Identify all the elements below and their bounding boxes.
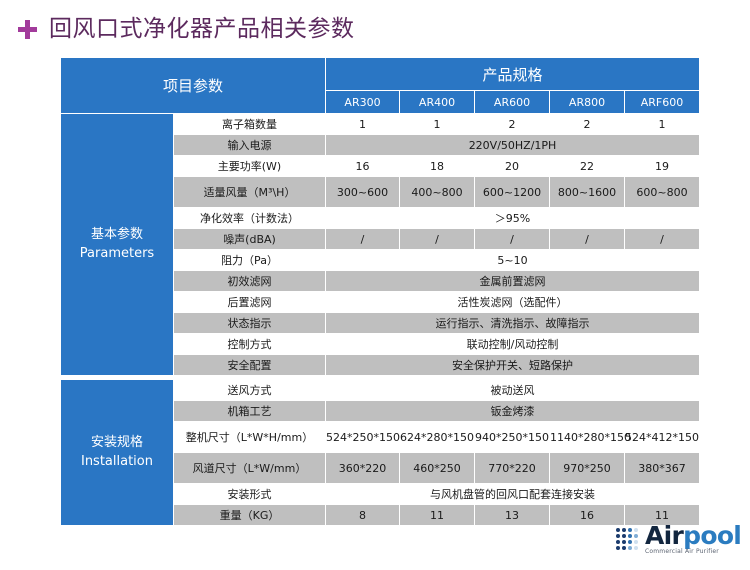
table-row: 安装规格Installation送风方式被动送风 — [61, 380, 700, 401]
section-label-cn: 基本参数 — [91, 227, 143, 242]
row-value-merged: 活性炭滤网（选配件） — [326, 292, 700, 313]
row-value-cell: 18 — [400, 156, 475, 177]
row-value-cell: 600~800 — [625, 177, 700, 208]
row-value-cell: 22 — [550, 156, 625, 177]
row-value-cell: 13 — [475, 505, 550, 526]
row-value-cell: 19 — [625, 156, 700, 177]
row-label: 适量风量（M³\H） — [174, 177, 326, 208]
logo-tagline: Commercial Air Purifier — [645, 549, 741, 555]
row-value-merged: 运行指示、清洗指示、故障指示 — [326, 313, 700, 334]
header-group-label: 产品规格 — [326, 58, 700, 91]
section-label-cn: 安装规格 — [91, 435, 143, 450]
row-label: 机箱工艺 — [174, 401, 326, 422]
row-value-cell: 624*280*150 — [400, 422, 475, 453]
row-label: 阻力（Pa） — [174, 250, 326, 271]
row-value-cell: 2 — [475, 114, 550, 135]
row-label: 状态指示 — [174, 313, 326, 334]
logo-brand-pool: pool — [683, 521, 741, 550]
logo-brand: Airpool — [645, 524, 741, 548]
row-value-cell: 1 — [625, 114, 700, 135]
row-value-cell: 770*220 — [475, 453, 550, 484]
header-model-ar600: AR600 — [475, 91, 550, 114]
row-label: 离子箱数量 — [174, 114, 326, 135]
row-value-merged: 220V/50HZ/1PH — [326, 135, 700, 156]
row-value-merged: 金属前置滤网 — [326, 271, 700, 292]
row-value-cell: 1140*280*150 — [550, 422, 625, 453]
row-label: 整机尺寸（L*W*H/mm） — [174, 422, 326, 453]
header-param-label: 项目参数 — [61, 58, 326, 114]
dot-matrix-icon — [616, 528, 639, 551]
row-value-cell: / — [326, 229, 400, 250]
row-value-cell: 600~1200 — [475, 177, 550, 208]
specification-table: 项目参数产品规格AR300AR400AR600AR800ARF600基本参数Pa… — [60, 57, 700, 526]
row-value-cell: 380*367 — [625, 453, 700, 484]
row-label: 控制方式 — [174, 334, 326, 355]
row-value-cell: 400~800 — [400, 177, 475, 208]
row-value-merged: 与风机盘管的回风口配套连接安装 — [326, 484, 700, 505]
row-value-cell: 460*250 — [400, 453, 475, 484]
row-label: 输入电源 — [174, 135, 326, 156]
row-value-cell: 970*250 — [550, 453, 625, 484]
row-value-cell: 1 — [326, 114, 400, 135]
row-value-merged: 安全保护开关、短路保护 — [326, 355, 700, 376]
section-label-installation: 安装规格Installation — [61, 380, 174, 526]
section-label-parameters: 基本参数Parameters — [61, 114, 174, 376]
row-label: 安装形式 — [174, 484, 326, 505]
row-value-merged: 联动控制/风动控制 — [326, 334, 700, 355]
row-label: 重量（KG） — [174, 505, 326, 526]
header-model-ar300: AR300 — [326, 91, 400, 114]
header-model-ar800: AR800 — [550, 91, 625, 114]
row-value-cell: 524*250*150 — [326, 422, 400, 453]
airpool-logo: Airpool Commercial Air Purifier — [616, 524, 741, 555]
row-label: 送风方式 — [174, 380, 326, 401]
header-model-arf600: ARF600 — [625, 91, 700, 114]
row-value-cell: 20 — [475, 156, 550, 177]
row-value-cell: / — [550, 229, 625, 250]
logo-wordmark: Airpool Commercial Air Purifier — [645, 524, 741, 555]
plus-icon — [18, 20, 37, 39]
logo-brand-air: Air — [645, 521, 683, 550]
row-label: 安全配置 — [174, 355, 326, 376]
row-value-merged: 钣金烤漆 — [326, 401, 700, 422]
row-value-cell: 300~600 — [326, 177, 400, 208]
row-value-merged: 被动送风 — [326, 380, 700, 401]
section-label-en: Installation — [61, 453, 173, 472]
row-value-cell: 2 — [550, 114, 625, 135]
row-value-cell: / — [400, 229, 475, 250]
row-value-cell: 800~1600 — [550, 177, 625, 208]
row-label: 主要功率(W) — [174, 156, 326, 177]
section-label-en: Parameters — [61, 245, 173, 264]
row-value-cell: 1 — [400, 114, 475, 135]
row-value-cell: 360*220 — [326, 453, 400, 484]
row-label: 后置滤网 — [174, 292, 326, 313]
row-value-cell: 940*250*150 — [475, 422, 550, 453]
row-value-cell: 16 — [550, 505, 625, 526]
row-label: 风道尺寸（L*W/mm） — [174, 453, 326, 484]
row-value-merged: ＞95% — [326, 208, 700, 229]
row-value-cell: / — [475, 229, 550, 250]
page-title: 回风口式净化器产品相关参数 — [18, 18, 355, 41]
row-label: 初效滤网 — [174, 271, 326, 292]
row-label: 噪声(dBA) — [174, 229, 326, 250]
table-row: 基本参数Parameters离子箱数量11221 — [61, 114, 700, 135]
page-title-text: 回风口式净化器产品相关参数 — [49, 18, 355, 41]
table-header-row-group: 项目参数产品规格 — [61, 58, 700, 91]
row-value-merged: 5~10 — [326, 250, 700, 271]
row-value-cell: 524*412*150 — [625, 422, 700, 453]
header-model-ar400: AR400 — [400, 91, 475, 114]
row-label: 净化效率（计数法） — [174, 208, 326, 229]
row-value-cell: / — [625, 229, 700, 250]
row-value-cell: 16 — [326, 156, 400, 177]
row-value-cell: 8 — [326, 505, 400, 526]
row-value-cell: 11 — [400, 505, 475, 526]
